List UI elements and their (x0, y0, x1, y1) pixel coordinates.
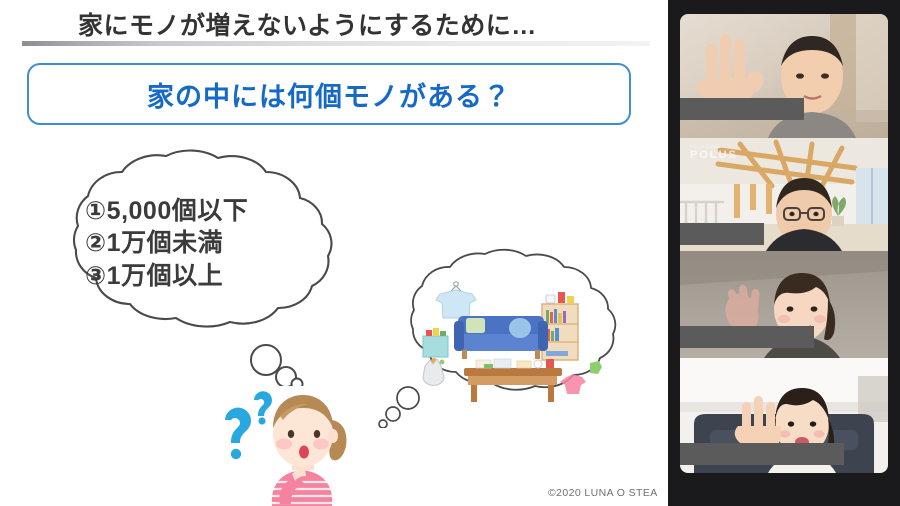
room-thought-bubble (372, 238, 662, 428)
participant-name-label-hidden (680, 443, 844, 465)
video-tile-participant-1[interactable] (680, 14, 888, 138)
question-mark-icon (225, 408, 251, 460)
participant-name-label-hidden (680, 223, 764, 245)
question-text: 家の中には何個モノがある？ (147, 75, 511, 114)
video-tile-participant-2[interactable]: POLUS HOUSEPOLUS (680, 138, 888, 251)
video-participants-panel: POLUS HOUSEPOLUS (668, 0, 900, 506)
participant-name-label-hidden (680, 98, 804, 120)
presentation-slide: 家にモノが増えないようにするために… 家の中には何個モノがある？ ①5,000個… (0, 0, 668, 506)
question-mark-icon-small (254, 391, 272, 424)
question-callout-box: 家の中には何個モノがある？ (27, 63, 631, 125)
webinar-screen: 家にモノが増えないようにするために… 家の中には何個モノがある？ ①5,000個… (0, 0, 900, 506)
video-tile-participant-4[interactable] (680, 358, 888, 473)
answer-options-list: ①5,000個以下 ②1万個未満 ③1万個以上 (85, 195, 248, 292)
polus-watermark: POLUS HOUSEPOLUS (690, 146, 738, 161)
option-item-1: ①5,000個以下 (85, 195, 248, 227)
title-divider (22, 41, 650, 46)
page-title: 家にモノが増えないようにするために… (78, 6, 537, 42)
thinking-person-illustration (200, 376, 380, 506)
option-item-3: ③1万個以上 (85, 260, 248, 292)
video-tile-participant-3[interactable] (680, 251, 888, 358)
participant-name-label-hidden (680, 326, 814, 348)
option-item-2: ②1万個未満 (85, 227, 248, 259)
copyright-notice: ©2020 LUNA O STEA (548, 487, 658, 499)
